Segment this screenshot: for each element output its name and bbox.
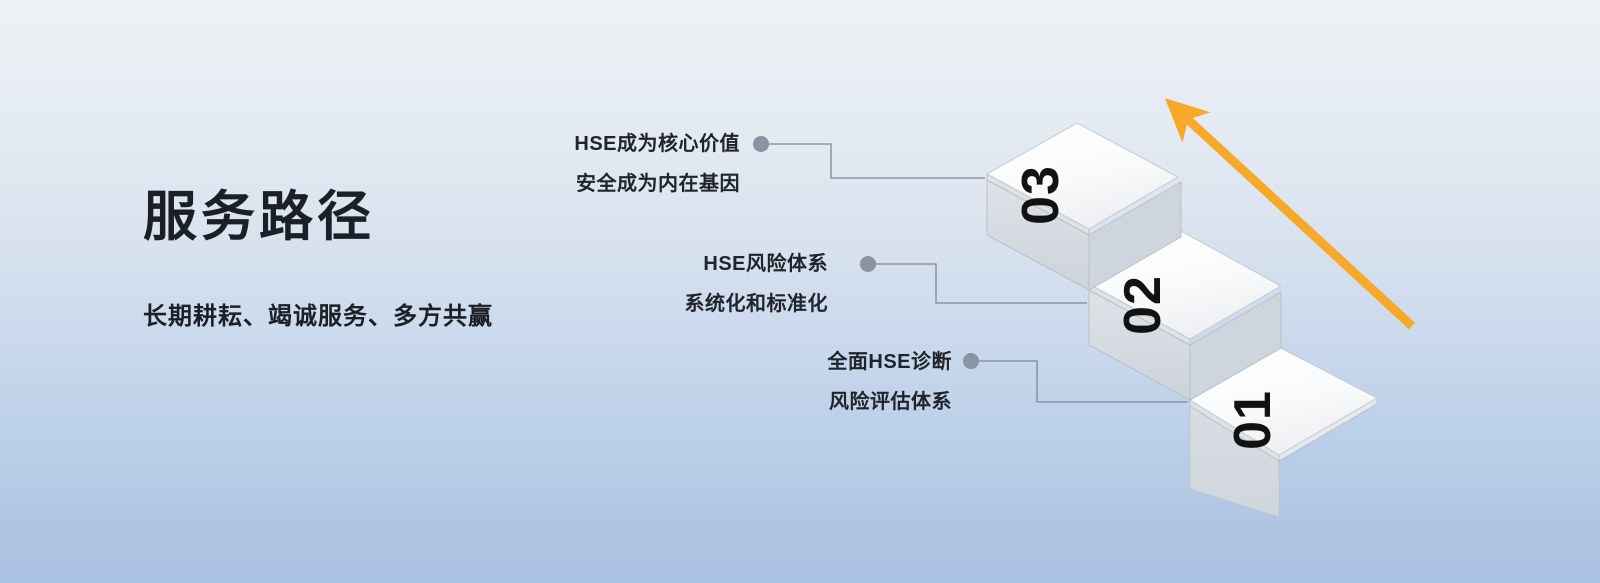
callout-step-02-line-1: HSE风险体系: [480, 254, 828, 274]
callout-step-01-line-2: 风险评估体系: [600, 392, 952, 412]
connector-03: [753, 136, 985, 178]
connector-03-dot: [753, 136, 769, 152]
callout-step-03-line-2: 安全成为内在基因: [360, 174, 740, 194]
callout-step-01: 全面HSE诊断 风险评估体系: [600, 352, 952, 412]
callout-step-01-line-1: 全面HSE诊断: [600, 352, 952, 372]
callout-step-03: HSE成为核心价值 安全成为内在基因: [360, 134, 740, 194]
callout-step-02-line-2: 系统化和标准化: [480, 294, 828, 314]
slide-canvas: 01 02 03: [0, 0, 1600, 583]
step-02-number: 02: [1114, 275, 1172, 335]
callout-step-03-line-1: HSE成为核心价值: [360, 134, 740, 154]
callout-step-02: HSE风险体系 系统化和标准化: [480, 254, 828, 314]
connector-02-dot: [860, 256, 876, 272]
page-title: 服务路径: [143, 186, 743, 248]
connector-03-line: [768, 144, 985, 178]
step-03-number: 03: [1012, 165, 1070, 225]
step-01-number: 01: [1224, 390, 1282, 450]
connector-01-dot: [963, 353, 979, 369]
